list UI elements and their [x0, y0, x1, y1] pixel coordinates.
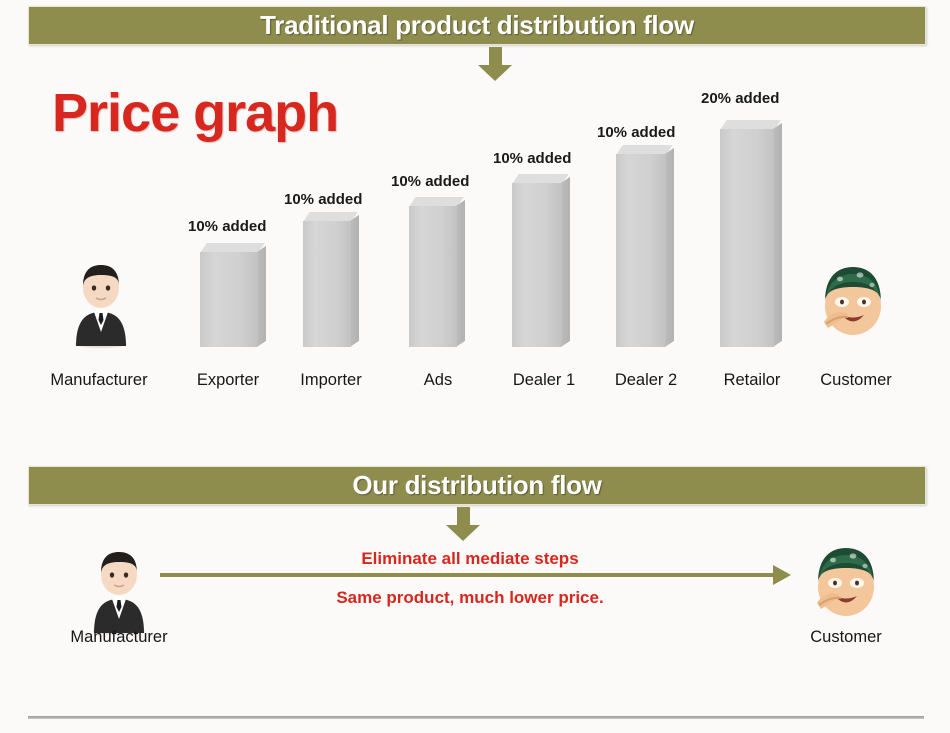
bar-exporter [200, 243, 258, 347]
businessman-avatar-icon-2 [88, 545, 150, 635]
axis-label-exporter: Exporter [178, 371, 278, 390]
bar-annotation-ads: 10% added [391, 173, 469, 190]
arrow-down-head [478, 65, 512, 81]
arrow-down-shaft [489, 47, 502, 66]
page-title: Price graph [52, 82, 338, 144]
businessman-avatar-svg-2 [88, 545, 150, 635]
bar-front-face [616, 154, 666, 347]
bar-annotation-dealer-1: 10% added [493, 150, 571, 167]
axis-label-importer: Importer [281, 371, 381, 390]
footer-divider [28, 716, 924, 719]
arrow-down-icon-2 [446, 507, 480, 541]
bar-annotation-importer: 10% added [284, 191, 362, 208]
our-flow-banner: Our distribution flow [28, 466, 926, 505]
axis-label-ads: Ads [393, 371, 483, 390]
bar-side-face [257, 246, 266, 347]
bar-dealer-1 [512, 174, 562, 347]
flow-message-line-1: Eliminate all mediate steps [265, 549, 675, 569]
axis-label-retailor: Retailor [702, 371, 802, 390]
axis-label-dealer-1: Dealer 1 [494, 371, 594, 390]
bar-ads [409, 197, 457, 347]
bar-front-face [409, 206, 457, 347]
bar-front-face [200, 252, 258, 347]
flow-message-line-2: Same product, much lower price. [265, 588, 675, 608]
axis-label-customer: Customer [796, 371, 916, 390]
bottom-label-customer: Customer [786, 628, 906, 647]
bar-front-face [512, 183, 562, 347]
bar-front-face [720, 129, 774, 347]
traditional-flow-title: Traditional product distribution flow [260, 10, 694, 41]
axis-label-manufacturer: Manufacturer [29, 371, 169, 390]
arrow-down-shaft [457, 507, 470, 526]
bar-importer [303, 212, 351, 347]
bar-side-face [561, 177, 570, 347]
arrow-right-head [773, 565, 791, 585]
axis-label-dealer-2: Dealer 2 [596, 371, 696, 390]
bar-side-face [665, 148, 674, 347]
arrow-down-icon [478, 47, 512, 81]
bar-side-face [773, 123, 782, 347]
bar-annotation-dealer-2: 10% added [597, 124, 675, 141]
customer-face-icon [812, 262, 894, 344]
bar-front-face [303, 221, 351, 347]
businessman-avatar-svg [70, 258, 132, 348]
bar-dealer-2 [616, 145, 666, 347]
customer-face-icon-2 [805, 543, 887, 625]
customer-face-svg-2 [805, 543, 887, 625]
bar-annotation-exporter: 10% added [188, 218, 266, 235]
businessman-avatar-icon [70, 258, 132, 348]
bar-retailor [720, 120, 774, 347]
slide-canvas: Traditional product distribution flow Pr… [0, 0, 950, 733]
arrow-down-head [446, 525, 480, 541]
bar-side-face [350, 215, 359, 347]
traditional-flow-banner: Traditional product distribution flow [28, 6, 926, 45]
bar-annotation-retailor: 20% added [701, 90, 779, 107]
customer-face-svg [812, 262, 894, 344]
our-flow-title: Our distribution flow [352, 470, 601, 501]
arrow-right-shaft [160, 573, 775, 577]
bottom-label-manufacturer: Manufacturer [49, 628, 189, 647]
bar-side-face [456, 200, 465, 347]
